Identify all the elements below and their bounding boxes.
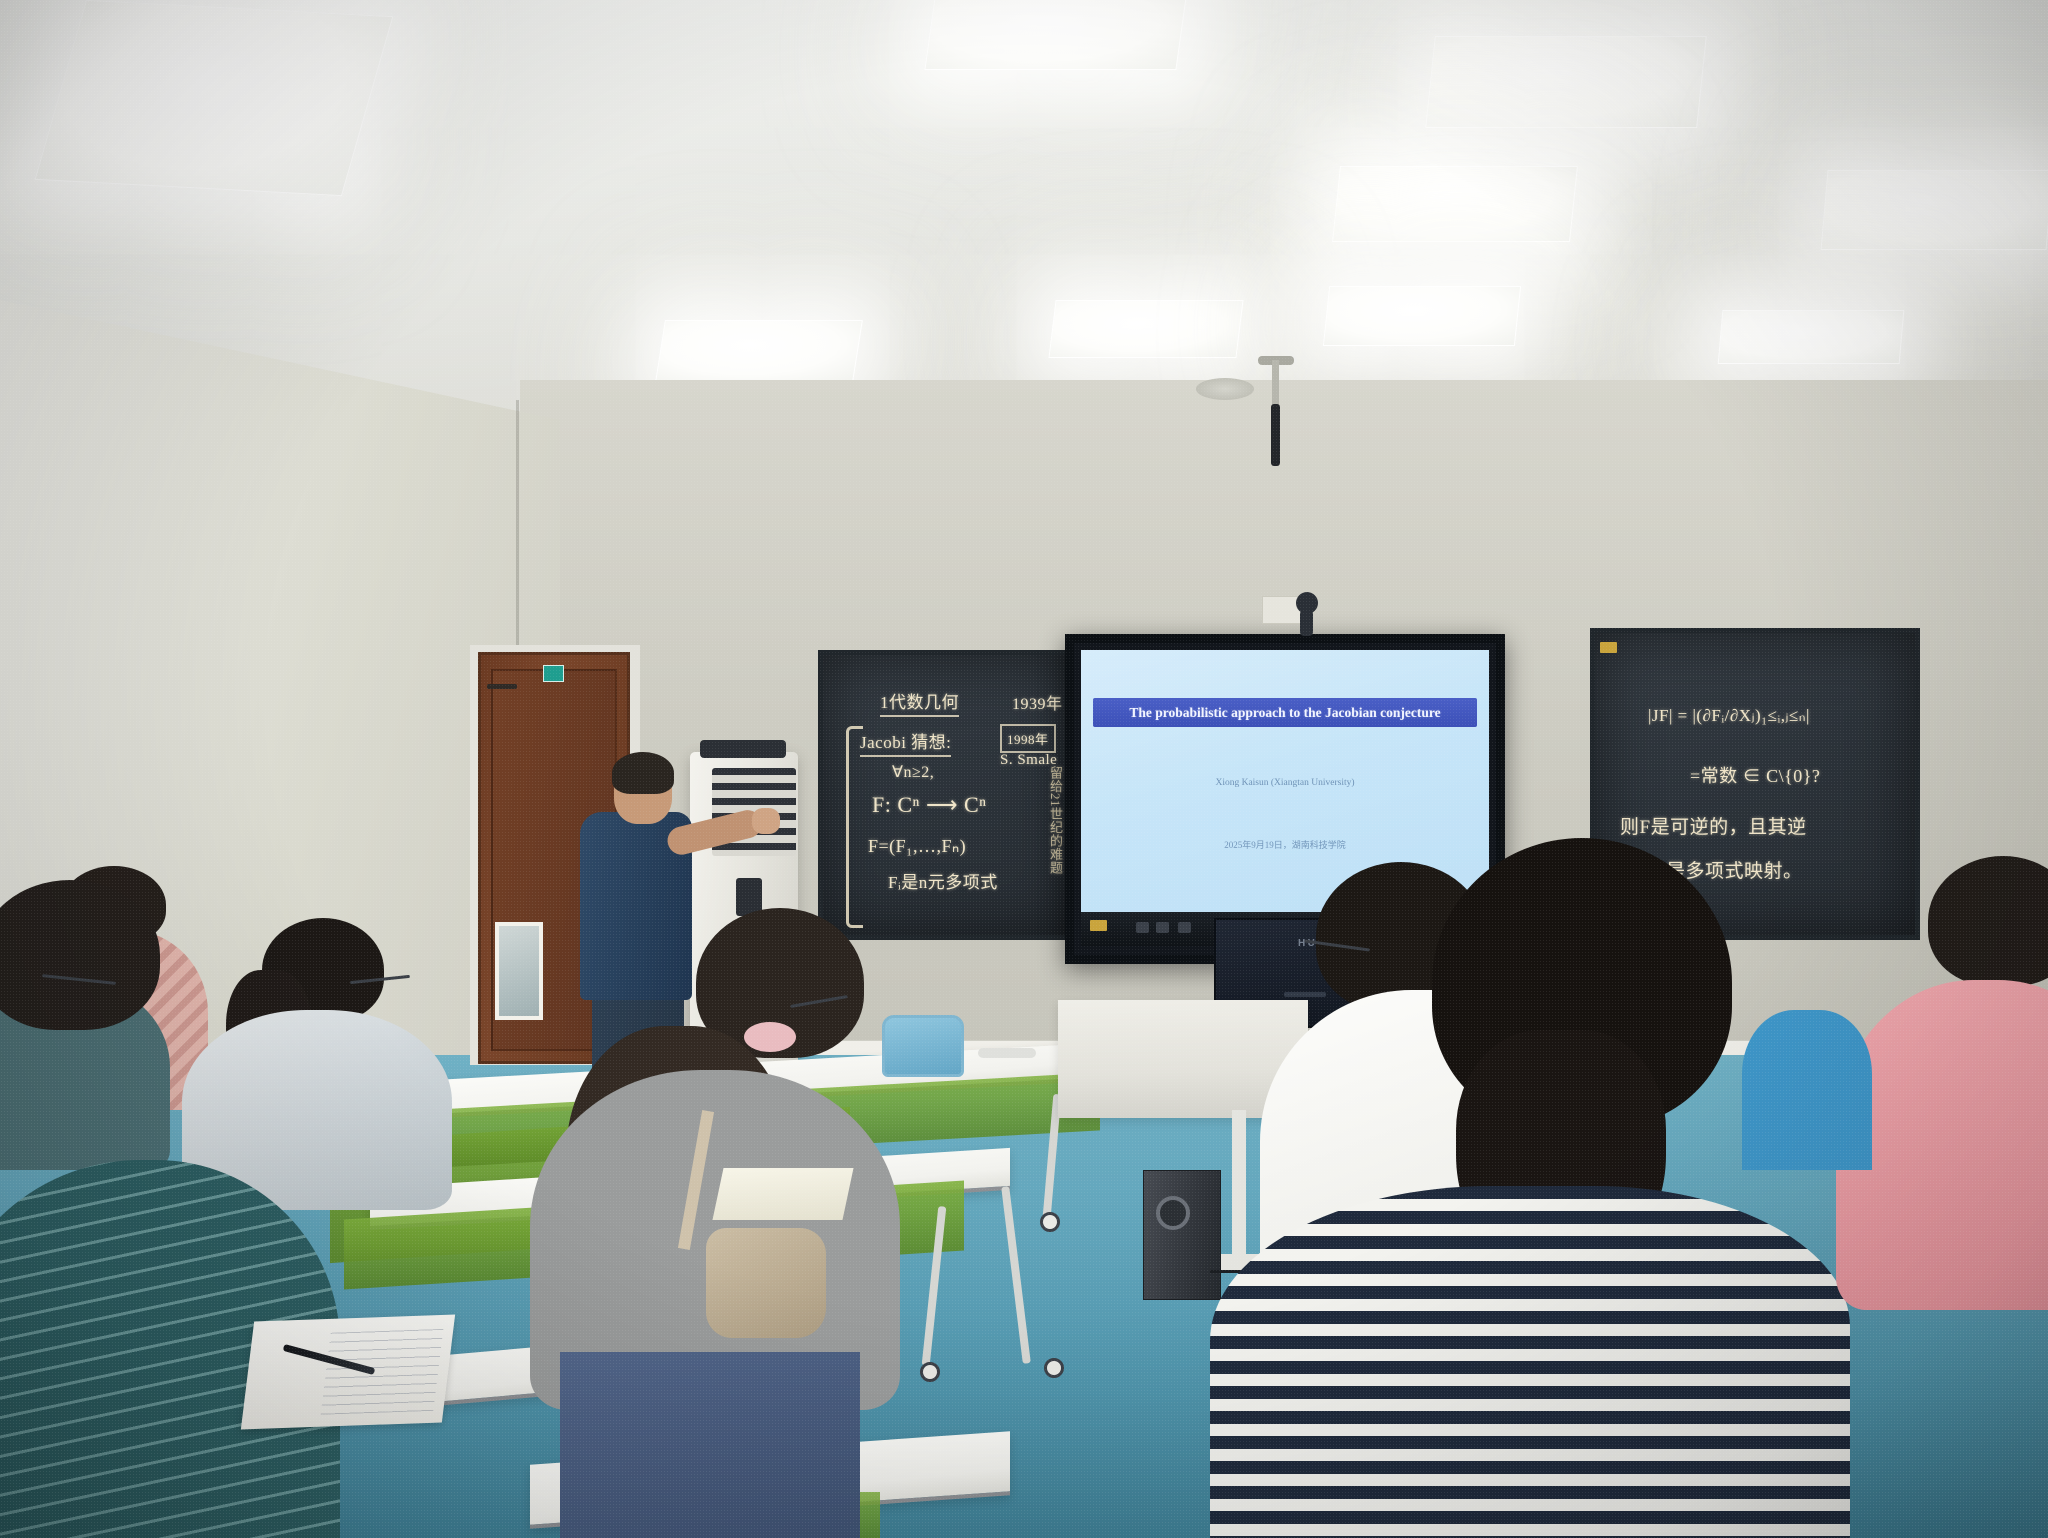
pc-fan-icon [1156, 1196, 1190, 1230]
open-book-on-desk [712, 1168, 853, 1220]
lecturer-hair [612, 752, 674, 794]
chalk-vertical-note: 留给21世纪的难题 [1046, 766, 1065, 930]
chalk-line-0: 1代数几何 [880, 688, 959, 717]
chalk-line-5: ∀n≥2, [892, 762, 934, 782]
jeans [560, 1352, 860, 1538]
chalk-right-line-1: =常数 ∈ C\{0}? [1690, 762, 1820, 788]
smartboard-input-button[interactable] [1178, 922, 1191, 933]
cloth-on-ac-top [700, 740, 786, 758]
slide-author: Xiong Kaisun (Xiangtan University) [1081, 778, 1489, 788]
desk-caster [1040, 1212, 1060, 1232]
chair-backrest[interactable] [882, 1015, 964, 1077]
desk-caster [920, 1362, 940, 1382]
open-notebook [241, 1315, 455, 1430]
ceiling-light-panel [1048, 300, 1243, 358]
door-handle[interactable] [487, 684, 517, 689]
smartboard-power-button[interactable] [1136, 922, 1149, 933]
shoulder-bag [706, 1228, 826, 1338]
ceiling-light-panel [1425, 36, 1707, 128]
monitor-status-led-icon [1284, 992, 1326, 997]
chalk-brace [846, 726, 863, 928]
ceiling-mic-rod [1272, 360, 1279, 408]
ceiling-light-panel [924, 0, 1187, 70]
ceiling-speaker [1196, 378, 1254, 400]
classroom-photo-scene: 1代数几何 1939年 Jacobi 猜想: 1998年 S. Smale ∀n… [0, 0, 2048, 1538]
chalk-line-7: F=(F₁,…,Fₙ) [868, 836, 966, 857]
chalk-right-line-2: 则F是可逆的，且其逆 [1620, 812, 1807, 839]
torso [1742, 1010, 1872, 1170]
slide-date-venue: 2025年9月19日，湖南科技学院 [1081, 838, 1489, 851]
slide-title: The probabilistic approach to the Jacobi… [1093, 698, 1477, 727]
exit-sticker-icon [543, 665, 564, 682]
torso [1210, 1186, 1850, 1538]
chalk-line-6: F: Cⁿ ⟶ Cⁿ [872, 792, 987, 818]
smartboard-label-tag-right [1600, 642, 1617, 653]
door-vision-panel [495, 922, 543, 1020]
ceiling-light-panel [1332, 166, 1578, 242]
ceiling-light-panel [1323, 286, 1521, 346]
chalk-line-2: Jacobi 猜想: [860, 728, 951, 757]
desk-caster [1044, 1358, 1064, 1378]
chair-armrest [978, 1048, 1036, 1058]
ceiling-light-panel [655, 320, 863, 382]
chalk-line-8: Fᵢ是n元多项式 [888, 868, 998, 893]
smartboard-label-tag-left [1090, 920, 1107, 931]
chalk-line-3: 1998年 [1000, 724, 1056, 753]
wall-camera-icon [1296, 592, 1318, 614]
hair-scrunchie [744, 1022, 796, 1052]
chalk-right-line-0: |JF| = |(∂Fᵢ/∂Xⱼ)₁≤ᵢ,ⱼ≤ₙ| [1648, 706, 1810, 726]
ceiling-light-panel [1718, 310, 1905, 364]
chalk-line-1: 1939年 [1012, 690, 1063, 714]
notebook-ruled-lines [321, 1329, 444, 1415]
lecturer-hand [752, 808, 780, 834]
ceiling-microphone-icon [1271, 404, 1280, 466]
smartboard-menu-button[interactable] [1156, 922, 1169, 933]
ceiling-light-panel [1821, 170, 2048, 250]
ceiling-light-panel [35, 0, 394, 196]
